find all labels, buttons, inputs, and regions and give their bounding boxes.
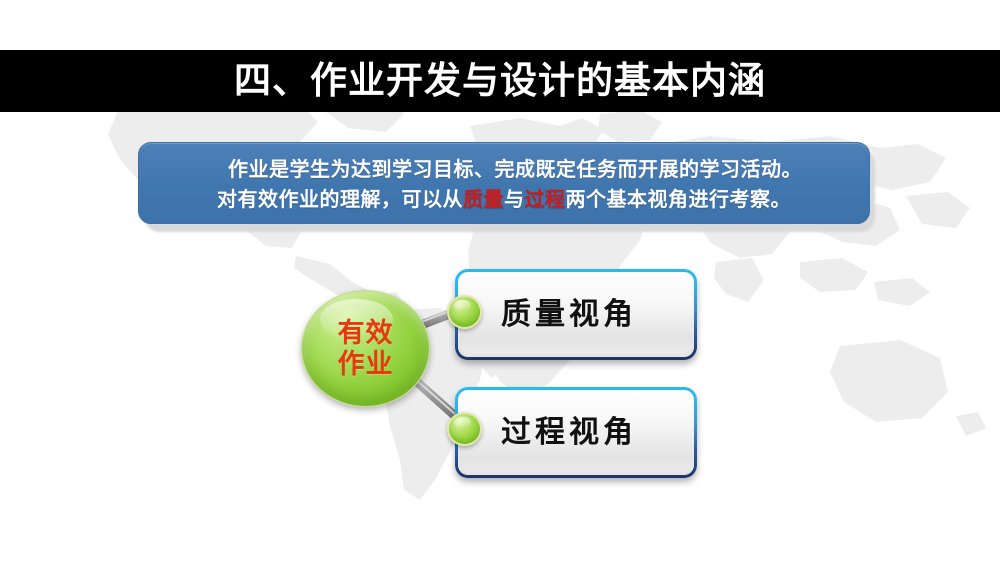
branch-box-quality[interactable]: 质量视角 [455, 269, 697, 360]
slide-canvas: 四、作业开发与设计的基本内涵 作业是学生为达到学习目标、完成既定任务而开展的学习… [0, 0, 1000, 562]
node-dot-process [447, 412, 482, 446]
branch-box-process[interactable]: 过程视角 [455, 387, 697, 478]
branch-label-process: 过程视角 [501, 418, 637, 448]
hub-label-line-2: 作业 [338, 349, 394, 380]
branch-box-process-inner: 过程视角 [458, 390, 694, 475]
branch-label-quality: 质量视角 [501, 300, 637, 330]
node-dot-quality [447, 295, 482, 329]
concept-diagram: 质量视角 过程视角 有效 作业 [0, 0, 1000, 562]
hub-circle-effective-homework[interactable]: 有效 作业 [301, 290, 430, 407]
hub-label-line-1: 有效 [338, 318, 394, 349]
branch-box-quality-inner: 质量视角 [458, 272, 694, 357]
